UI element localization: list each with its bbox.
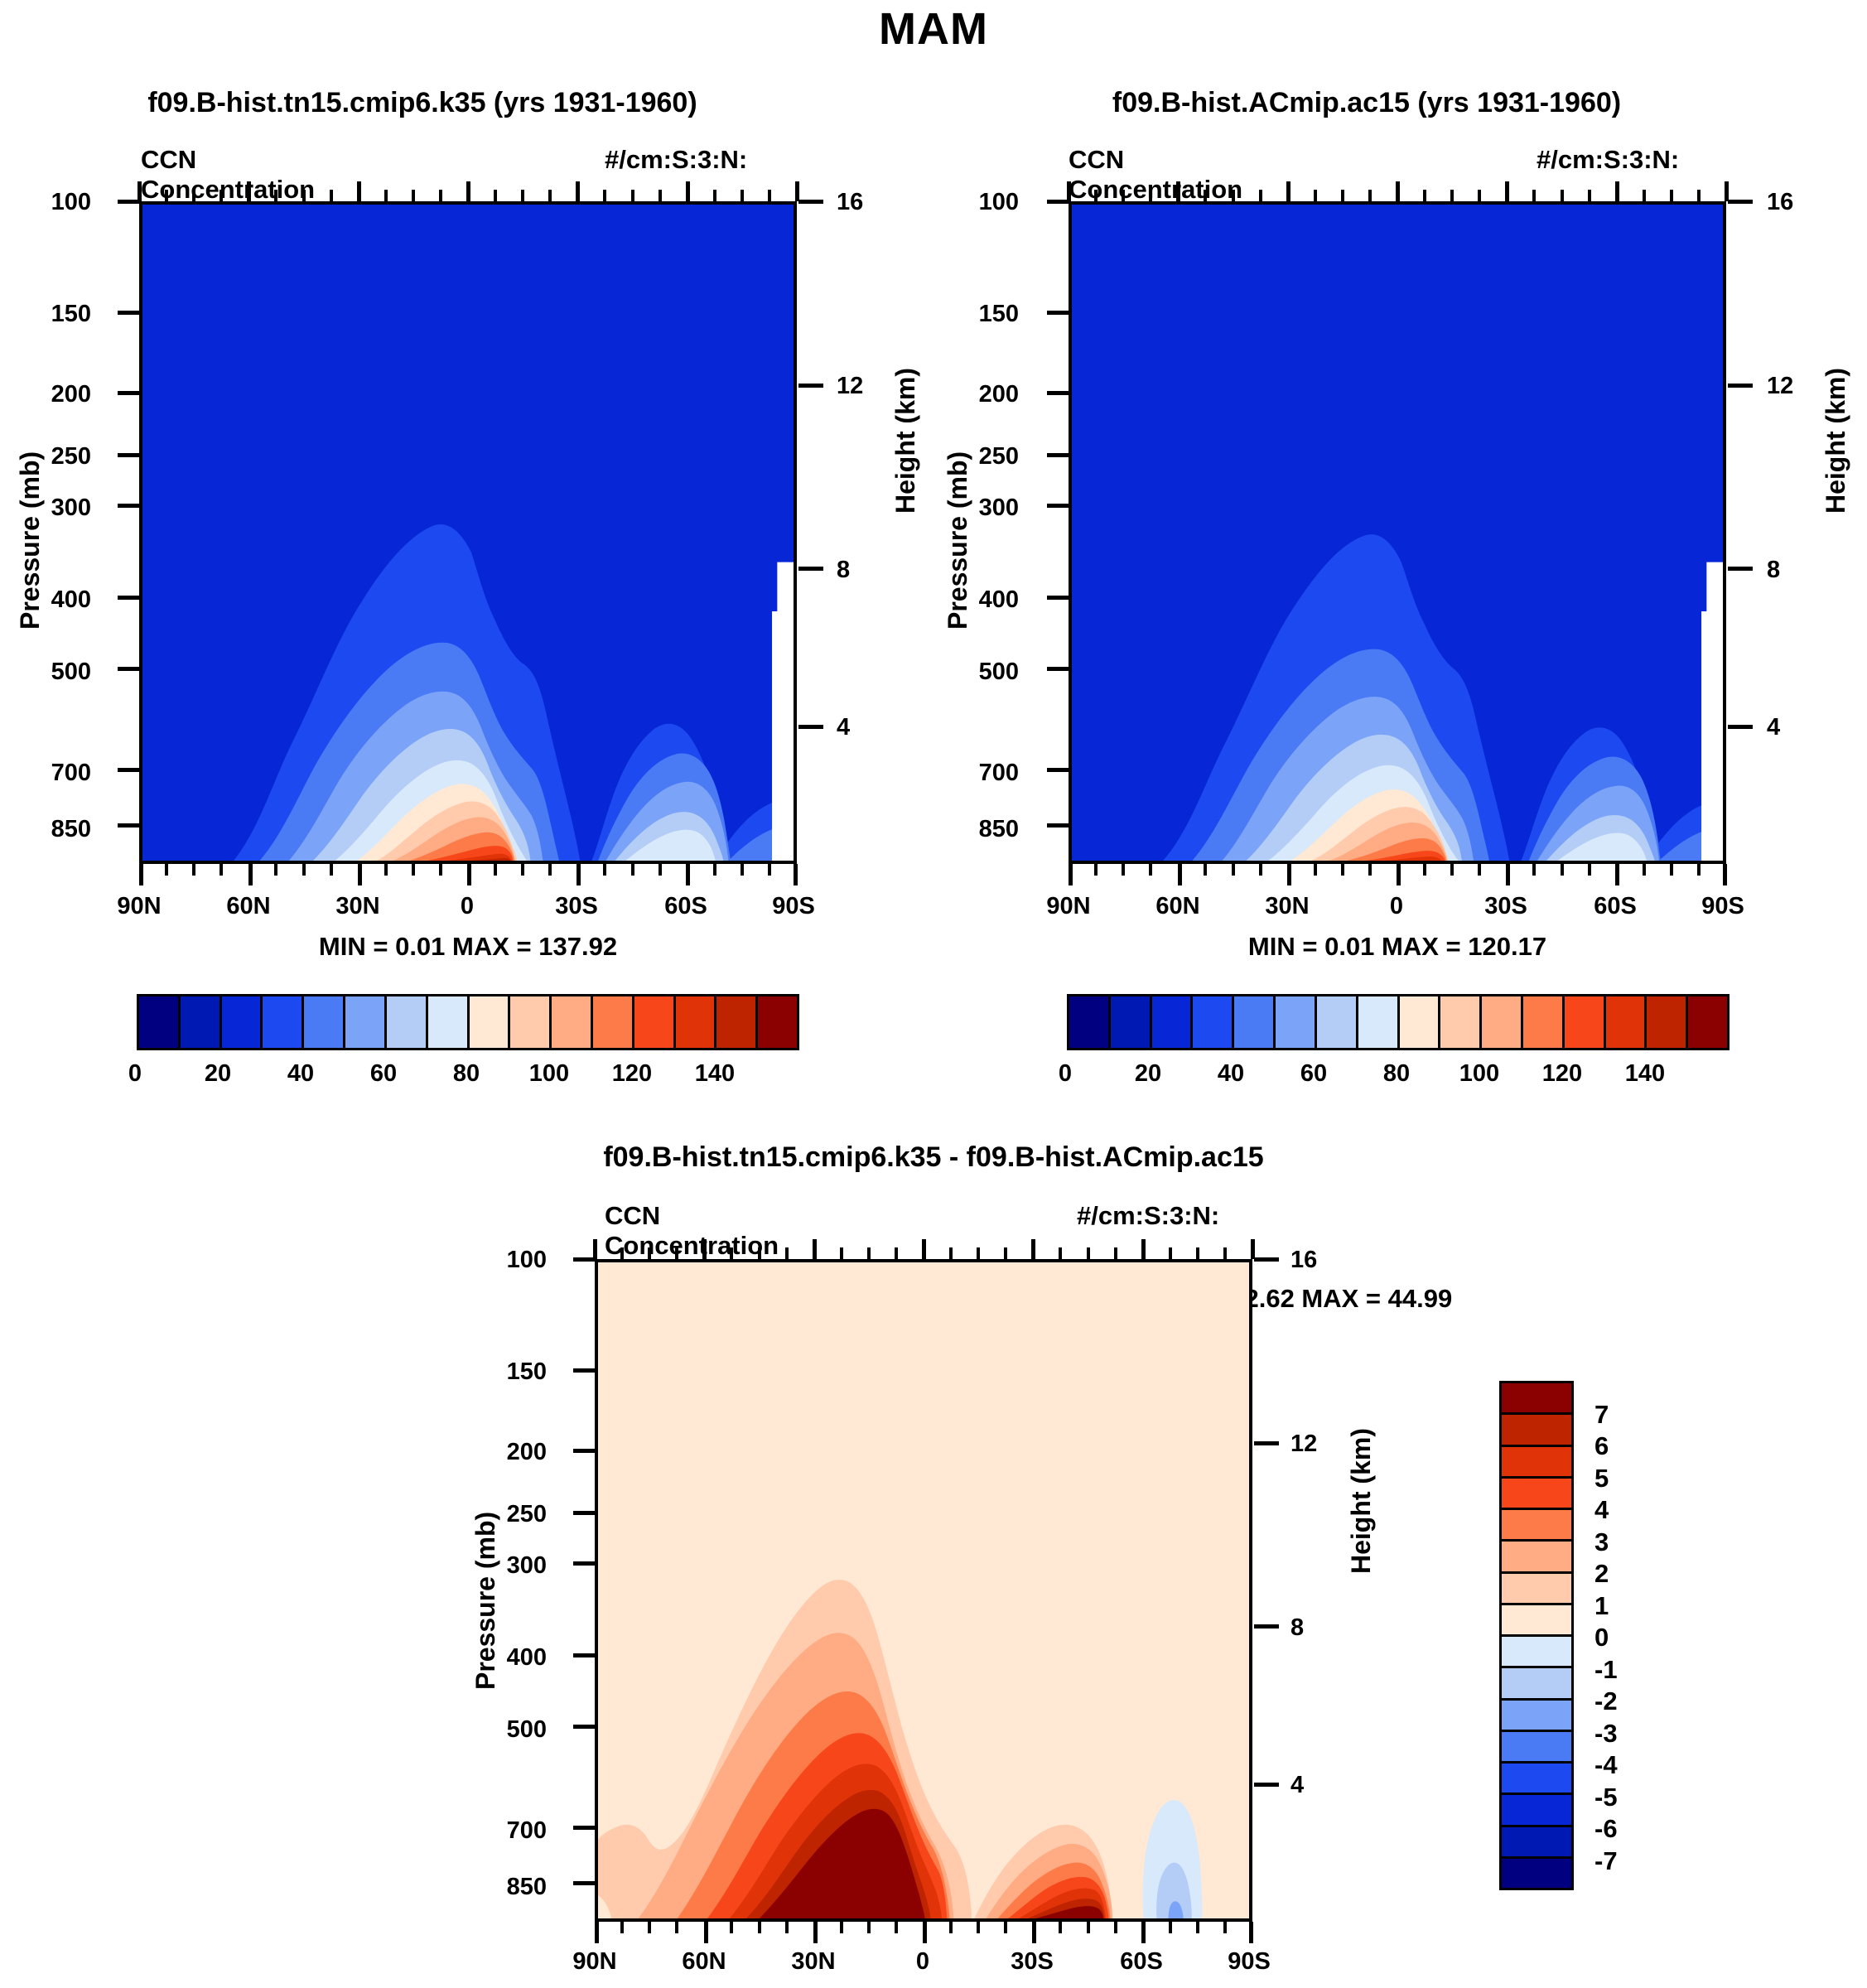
xtick-90S: 90S — [1673, 893, 1773, 920]
pressure-tick-mark — [1047, 311, 1069, 315]
colorbar-swatch-11 — [1523, 996, 1565, 1048]
axis-major-tick — [137, 181, 142, 201]
colorbar-swatch-2 — [1152, 996, 1194, 1048]
cbar-label-60: 60 — [1272, 1060, 1355, 1088]
axis-minor-tick — [330, 864, 333, 876]
ytick-300: 300 — [0, 495, 91, 522]
axis-minor-tick — [1532, 190, 1536, 201]
ytick-700: 700 — [0, 760, 91, 787]
ytick-150: 150 — [456, 1358, 547, 1386]
htick-4: 4 — [1767, 714, 1833, 741]
axis-minor-tick — [867, 1922, 871, 1933]
htick-12: 12 — [1767, 373, 1833, 400]
xtick-60N: 60N — [1128, 893, 1228, 920]
xtick-mark — [1249, 1922, 1253, 1943]
pressure-tick-mark — [1047, 504, 1069, 508]
colorbar-swatch-8 — [470, 996, 511, 1048]
pressure-tick-mark — [573, 1449, 595, 1453]
figure-main-title: MAM — [0, 3, 1867, 55]
xtick-mark — [704, 1922, 708, 1943]
axis-minor-tick — [730, 1922, 733, 1933]
vbar-label-m6: -6 — [1594, 1814, 1618, 1844]
cbar-label-120: 120 — [1521, 1060, 1604, 1088]
axis-minor-tick — [768, 864, 771, 876]
vbar-label-1: 1 — [1594, 1591, 1609, 1621]
ytick-100: 100 — [928, 189, 1019, 216]
cbar-label-60: 60 — [342, 1060, 425, 1088]
htick-16: 16 — [1290, 1247, 1357, 1274]
axis-minor-tick — [1670, 864, 1673, 876]
cbar-label-0: 0 — [94, 1060, 176, 1088]
pressure-tick-mark — [118, 596, 139, 600]
xtick-90N: 90N — [1019, 893, 1118, 920]
xtick-90N: 90N — [89, 893, 189, 920]
axis-minor-tick — [1059, 1922, 1062, 1933]
ytick-850: 850 — [456, 1874, 547, 1901]
ytick-200: 200 — [928, 381, 1019, 408]
diff-colorbar-swatch-9 — [1502, 1668, 1571, 1700]
colorbar-swatch-6 — [1317, 996, 1358, 1048]
pressure-tick-mark — [118, 768, 139, 772]
axis-minor-tick — [620, 1247, 624, 1259]
axis-minor-tick — [1004, 1922, 1007, 1933]
axis-minor-tick — [384, 190, 388, 201]
cbar-label-20: 20 — [1107, 1060, 1189, 1088]
xtick-mark — [1397, 864, 1401, 885]
xtick-30S: 30S — [527, 893, 626, 920]
axis-minor-tick — [949, 1922, 953, 1933]
diff-panel-variable: CCN Concentration — [605, 1201, 779, 1261]
axis-minor-tick — [1588, 864, 1591, 876]
colorbar-swatch-1 — [181, 996, 222, 1048]
diff-plot-area[interactable] — [595, 1259, 1252, 1922]
diff-panel-title: f09.B-hist.tn15.cmip6.k35 - f09.B-hist.A… — [354, 1141, 1513, 1174]
xtick-90S: 90S — [744, 893, 843, 920]
axis-minor-tick — [439, 864, 442, 876]
axis-minor-tick — [165, 190, 168, 201]
diff-colorbar-swatch-15 — [1502, 1859, 1571, 1888]
axis-minor-tick — [1314, 190, 1317, 201]
axis-minor-tick — [330, 190, 333, 201]
pressure-tick-mark — [118, 504, 139, 508]
cbar-label-80: 80 — [425, 1060, 508, 1088]
xtick-60S: 60S — [1565, 893, 1665, 920]
diff-colorbar-swatch-5 — [1502, 1542, 1571, 1573]
xtick-mark — [1178, 864, 1182, 885]
ytick-300: 300 — [456, 1552, 547, 1580]
diff-colorbar-swatch-2 — [1502, 1447, 1571, 1479]
axis-minor-tick — [631, 190, 634, 201]
diff-colorbar-swatch-8 — [1502, 1637, 1571, 1668]
cbar-label-0: 0 — [1024, 1060, 1107, 1088]
xtick-60N: 60N — [199, 893, 298, 920]
axis-minor-tick — [1204, 864, 1207, 876]
xtick-90S: 90S — [1199, 1948, 1299, 1976]
xtick-mark — [923, 1922, 927, 1943]
pressure-tick-mark — [1047, 453, 1069, 457]
axis-minor-tick — [1478, 190, 1481, 201]
axis-minor-tick — [603, 864, 606, 876]
colorbar-swatch-10 — [1482, 996, 1523, 1048]
ytick-200: 200 — [456, 1439, 547, 1466]
pressure-tick-mark — [573, 1511, 595, 1515]
axis-minor-tick — [895, 1922, 898, 1933]
htick-4: 4 — [837, 714, 903, 741]
htick-8: 8 — [1767, 557, 1833, 584]
xtick-mark — [248, 864, 253, 885]
axis-major-tick — [1615, 181, 1619, 201]
colorbar-swatch-15 — [758, 996, 797, 1048]
colorbar-swatch-0 — [139, 996, 181, 1048]
xtick-0: 0 — [1347, 893, 1446, 920]
cbar-label-140: 140 — [673, 1060, 756, 1088]
xtick-30S: 30S — [1456, 893, 1556, 920]
xtick-60N: 60N — [654, 1948, 754, 1976]
axis-minor-tick — [1643, 864, 1646, 876]
axis-minor-tick — [220, 190, 223, 201]
axis-minor-tick — [1122, 190, 1125, 201]
axis-minor-tick — [1314, 864, 1317, 876]
axis-minor-tick — [1670, 190, 1673, 201]
axis-minor-tick — [1169, 1247, 1172, 1259]
left-colorbar[interactable] — [137, 994, 799, 1050]
colorbar-swatch-10 — [552, 996, 593, 1048]
axis-minor-tick — [785, 1247, 789, 1259]
axis-minor-tick — [1094, 864, 1098, 876]
xtick-60S: 60S — [1092, 1948, 1191, 1976]
height-tick-mark — [1728, 200, 1753, 204]
height-tick-mark — [1254, 1257, 1279, 1262]
ytick-400: 400 — [928, 586, 1019, 614]
axis-minor-tick — [1087, 1922, 1090, 1933]
xtick-0: 0 — [417, 893, 517, 920]
vbar-label-6: 6 — [1594, 1431, 1609, 1461]
axis-major-tick — [576, 181, 580, 201]
xtick-mark — [595, 1922, 599, 1943]
right-panel-title: f09.B-hist.ACmip.ac15 (yrs 1931-1960) — [994, 87, 1739, 119]
height-tick-mark — [1728, 725, 1753, 729]
ytick-150: 150 — [0, 301, 91, 328]
colorbar-swatch-14 — [1647, 996, 1688, 1048]
pressure-tick-mark — [118, 823, 139, 828]
axis-minor-tick — [521, 864, 524, 876]
axis-minor-tick — [741, 190, 744, 201]
ytick-850: 850 — [0, 816, 91, 843]
cbar-label-40: 40 — [259, 1060, 342, 1088]
colorbar-swatch-14 — [716, 996, 758, 1048]
vbar-label-m2: -2 — [1594, 1686, 1618, 1716]
axis-minor-tick — [521, 190, 524, 201]
axis-minor-tick — [895, 1247, 898, 1259]
colorbar-swatch-4 — [304, 996, 345, 1048]
colorbar-swatch-3 — [263, 996, 304, 1048]
xtick-60S: 60S — [636, 893, 736, 920]
vbar-label-2: 2 — [1594, 1559, 1609, 1589]
axis-minor-tick — [1588, 190, 1591, 201]
axis-minor-tick — [1114, 1247, 1117, 1259]
axis-minor-tick — [1087, 1247, 1090, 1259]
xtick-mark — [813, 1922, 818, 1943]
colorbar-swatch-15 — [1688, 996, 1727, 1048]
pressure-tick-mark — [573, 1257, 595, 1262]
vbar-label-4: 4 — [1594, 1495, 1609, 1525]
axis-major-tick — [702, 1239, 707, 1259]
axis-major-tick — [1251, 1239, 1255, 1259]
axis-major-tick — [1067, 181, 1071, 201]
axis-minor-tick — [977, 1247, 980, 1259]
axis-minor-tick — [785, 1922, 789, 1933]
pressure-tick-mark — [1047, 667, 1069, 671]
axis-minor-tick — [548, 190, 552, 201]
ytick-400: 400 — [456, 1644, 547, 1672]
axis-minor-tick — [439, 190, 442, 201]
pressure-tick-mark — [1047, 596, 1069, 600]
height-tick-mark — [798, 567, 823, 571]
difference-colorbar[interactable] — [1499, 1381, 1574, 1890]
pressure-tick-mark — [573, 1826, 595, 1830]
pressure-tick-mark — [118, 453, 139, 457]
height-tick-mark — [798, 200, 823, 204]
diff-colorbar-swatch-3 — [1502, 1479, 1571, 1510]
height-tick-mark — [1254, 1441, 1279, 1445]
pressure-tick-mark — [1047, 391, 1069, 395]
colorbar-swatch-9 — [510, 996, 552, 1048]
diff-colorbar-swatch-1 — [1502, 1415, 1571, 1446]
xtick-mark — [1615, 864, 1619, 885]
axis-minor-tick — [220, 864, 223, 876]
xtick-mark — [1506, 864, 1510, 885]
left-panel-units: #/cm:S:3:N: — [605, 145, 747, 175]
cbar-label-100: 100 — [508, 1060, 591, 1088]
pressure-tick-mark — [573, 1725, 595, 1729]
axis-minor-tick — [1114, 1922, 1117, 1933]
ytick-500: 500 — [0, 659, 91, 686]
htick-4: 4 — [1290, 1772, 1357, 1799]
axis-minor-tick — [1204, 190, 1207, 201]
xtick-mark — [1069, 864, 1073, 885]
pressure-tick-mark — [1047, 200, 1069, 204]
colorbar-swatch-2 — [222, 996, 263, 1048]
htick-12: 12 — [837, 373, 903, 400]
xtick-30N: 30N — [1237, 893, 1337, 920]
axis-major-tick — [466, 181, 470, 201]
axis-minor-tick — [659, 864, 662, 876]
colorbar-swatch-13 — [1606, 996, 1647, 1048]
htick-16: 16 — [1767, 189, 1833, 216]
ytick-200: 200 — [0, 381, 91, 408]
right-plot-area[interactable] — [1069, 201, 1726, 864]
axis-major-tick — [593, 1239, 597, 1259]
axis-minor-tick — [949, 1247, 953, 1259]
xtick-30S: 30S — [982, 1948, 1082, 1976]
colorbar-swatch-11 — [593, 996, 634, 1048]
axis-minor-tick — [840, 1922, 843, 1933]
axis-minor-tick — [192, 864, 195, 876]
axis-minor-tick — [1259, 190, 1262, 201]
axis-minor-tick — [1059, 1247, 1062, 1259]
ytick-700: 700 — [928, 760, 1019, 787]
left-panel-title: f09.B-hist.tn15.cmip6.k35 (yrs 1931-1960… — [50, 87, 795, 119]
vbar-label-m1: -1 — [1594, 1655, 1618, 1685]
diff-colorbar-swatch-13 — [1502, 1795, 1571, 1826]
xtick-mark — [1723, 864, 1727, 885]
axis-minor-tick — [648, 1922, 651, 1933]
diff-panel-units: #/cm:S:3:N: — [1077, 1201, 1219, 1231]
diff-colorbar-swatch-12 — [1502, 1764, 1571, 1795]
colorbar-swatch-12 — [1565, 996, 1606, 1048]
axis-major-tick — [686, 181, 690, 201]
axis-major-tick — [922, 1239, 926, 1259]
vbar-label-m5: -5 — [1594, 1783, 1618, 1812]
axis-minor-tick — [1561, 190, 1564, 201]
diff-colorbar-swatch-10 — [1502, 1701, 1571, 1732]
axis-minor-tick — [1450, 190, 1454, 201]
axis-minor-tick — [1532, 864, 1536, 876]
axis-major-tick — [247, 181, 251, 201]
ytick-500: 500 — [928, 659, 1019, 686]
axis-minor-tick — [1004, 1247, 1007, 1259]
axis-minor-tick — [867, 1247, 871, 1259]
ytick-250: 250 — [0, 443, 91, 470]
axis-minor-tick — [1196, 1922, 1199, 1933]
axis-minor-tick — [1149, 190, 1152, 201]
axis-minor-tick — [1697, 864, 1701, 876]
axis-minor-tick — [412, 190, 415, 201]
axis-minor-tick — [741, 864, 744, 876]
colorbar-swatch-12 — [634, 996, 676, 1048]
diff-colorbar-swatch-14 — [1502, 1827, 1571, 1859]
axis-minor-tick — [1341, 864, 1344, 876]
axis-minor-tick — [840, 1247, 843, 1259]
axis-minor-tick — [758, 1922, 761, 1933]
cbar-label-80: 80 — [1355, 1060, 1438, 1088]
axis-minor-tick — [675, 1922, 678, 1933]
cbar-label-20: 20 — [176, 1060, 259, 1088]
axis-major-tick — [813, 1239, 817, 1259]
colorbar-swatch-3 — [1193, 996, 1234, 1048]
xtick-mark — [1141, 1922, 1146, 1943]
cbar-label-120: 120 — [591, 1060, 673, 1088]
pressure-tick-mark — [118, 391, 139, 395]
pressure-tick-mark — [573, 1561, 595, 1566]
ytick-150: 150 — [928, 301, 1019, 328]
left-minmax: MIN = 0.01 MAX = 137.92 — [139, 932, 797, 962]
axis-minor-tick — [768, 190, 771, 201]
diff-colorbar-swatch-6 — [1502, 1574, 1571, 1605]
htick-8: 8 — [837, 557, 903, 584]
axis-minor-tick — [659, 190, 662, 201]
vbar-label-m3: -3 — [1594, 1719, 1618, 1749]
height-tick-mark — [1728, 384, 1753, 388]
axis-minor-tick — [1196, 1247, 1199, 1259]
axis-major-tick — [1176, 181, 1180, 201]
axis-minor-tick — [1423, 864, 1426, 876]
axis-major-tick — [1725, 181, 1729, 201]
axis-minor-tick — [758, 1247, 761, 1259]
colorbar-swatch-13 — [676, 996, 717, 1048]
axis-minor-tick — [1643, 190, 1646, 201]
xtick-mark — [139, 864, 143, 885]
axis-minor-tick — [1223, 1922, 1227, 1933]
axis-minor-tick — [302, 864, 306, 876]
diff-colorbar-swatch-11 — [1502, 1732, 1571, 1764]
axis-minor-tick — [1368, 190, 1372, 201]
xtick-mark — [358, 864, 362, 885]
colorbar-swatch-7 — [1358, 996, 1400, 1048]
htick-8: 8 — [1290, 1614, 1357, 1642]
axis-major-tick — [795, 181, 799, 201]
colorbar-swatch-1 — [1111, 996, 1152, 1048]
height-tick-mark — [798, 384, 823, 388]
ytick-250: 250 — [928, 443, 1019, 470]
xtick-mark — [577, 864, 581, 885]
axis-minor-tick — [1259, 864, 1262, 876]
axis-minor-tick — [1149, 864, 1152, 876]
vbar-label-m7: -7 — [1594, 1846, 1618, 1876]
vbar-label-5: 5 — [1594, 1464, 1609, 1493]
xtick-mark — [467, 864, 471, 885]
axis-minor-tick — [274, 190, 277, 201]
colorbar-swatch-9 — [1440, 996, 1482, 1048]
ytick-500: 500 — [456, 1716, 547, 1744]
axis-major-tick — [357, 181, 361, 201]
ytick-850: 850 — [928, 816, 1019, 843]
xtick-mark — [794, 864, 798, 885]
ytick-100: 100 — [0, 189, 91, 216]
ytick-700: 700 — [456, 1817, 547, 1845]
axis-minor-tick — [1341, 190, 1344, 201]
axis-minor-tick — [302, 190, 306, 201]
axis-minor-tick — [1232, 190, 1235, 201]
colorbar-swatch-4 — [1234, 996, 1276, 1048]
xtick-mark — [1032, 1922, 1036, 1943]
xtick-30N: 30N — [764, 1948, 863, 1976]
pressure-tick-mark — [573, 1653, 595, 1657]
height-tick-mark — [1254, 1624, 1279, 1629]
xtick-mark — [686, 864, 690, 885]
colorbar-swatch-5 — [1276, 996, 1317, 1048]
htick-12: 12 — [1290, 1431, 1357, 1458]
pressure-tick-mark — [573, 1881, 595, 1885]
axis-major-tick — [1505, 181, 1509, 201]
cbar-label-40: 40 — [1189, 1060, 1272, 1088]
colorbar-swatch-8 — [1400, 996, 1441, 1048]
axis-minor-tick — [1697, 190, 1701, 201]
pressure-tick-mark — [1047, 823, 1069, 828]
axis-minor-tick — [494, 864, 497, 876]
diff-colorbar-swatch-4 — [1502, 1510, 1571, 1542]
xtick-30N: 30N — [308, 893, 408, 920]
htick-16: 16 — [837, 189, 903, 216]
xtick-0: 0 — [873, 1948, 972, 1976]
axis-minor-tick — [384, 864, 388, 876]
axis-major-tick — [1396, 181, 1400, 201]
cbar-label-140: 140 — [1604, 1060, 1686, 1088]
axis-major-tick — [1286, 181, 1290, 201]
axis-minor-tick — [603, 190, 606, 201]
colorbar-swatch-6 — [387, 996, 428, 1048]
ytick-100: 100 — [456, 1247, 547, 1274]
axis-minor-tick — [165, 864, 168, 876]
axis-minor-tick — [1223, 1247, 1227, 1259]
axis-major-tick — [1031, 1239, 1035, 1259]
right-colorbar[interactable] — [1067, 994, 1730, 1050]
left-plot-area[interactable] — [139, 201, 797, 864]
diff-colorbar-swatch-0 — [1502, 1383, 1571, 1415]
axis-minor-tick — [675, 1247, 678, 1259]
vbar-label-0: 0 — [1594, 1623, 1609, 1653]
axis-minor-tick — [977, 1922, 980, 1933]
